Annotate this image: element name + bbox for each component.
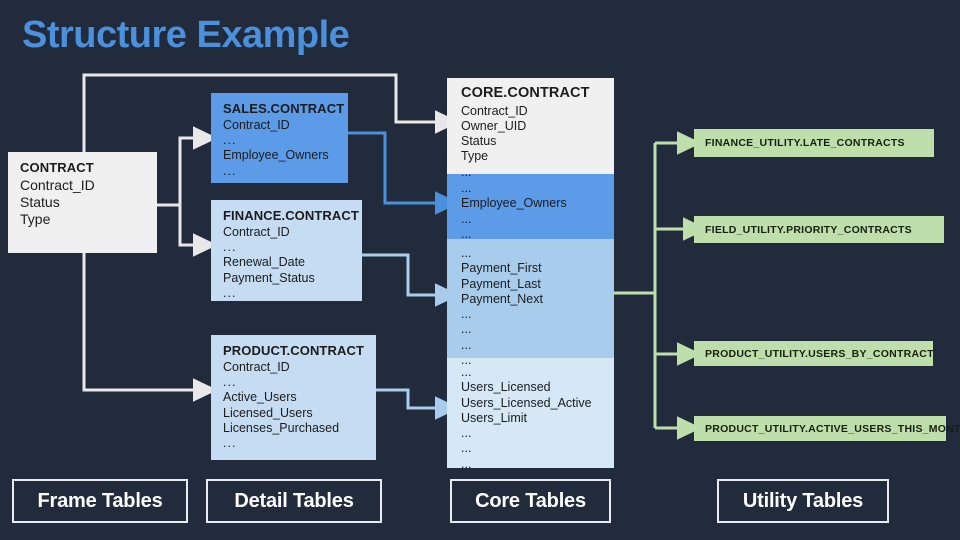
field: Licenses_Purchased (223, 421, 366, 436)
utility-table-label: PRODUCT_UTILITY.ACTIVE_USERS_THIS_MONTH (705, 423, 960, 435)
field: Status (20, 194, 147, 211)
field: Licensed_Users (223, 406, 366, 421)
table-title: CORE.CONTRACT (461, 85, 604, 103)
wire-contract-to-finance (157, 205, 196, 245)
field: Type (461, 149, 604, 164)
wire-product-to-core (376, 390, 438, 408)
wire-finance-to-core (362, 255, 438, 295)
legend-label: Core Tables (475, 490, 586, 513)
diagram-canvas: Structure Example (0, 0, 960, 540)
field: Payment_First (461, 261, 604, 276)
core-table-core-contract[interactable]: CORE.CONTRACT Contract_ID Owner_UID Stat… (447, 78, 614, 468)
field-ellipsis: ... (461, 307, 604, 322)
wire-contract-to-product (84, 253, 196, 390)
field: Users_Licensed (461, 380, 604, 395)
wire-contract-to-sales (157, 138, 196, 205)
table-title: CONTRACT (20, 160, 147, 176)
field: Contract_ID (223, 360, 366, 375)
field: Renewal_Date (223, 255, 352, 270)
field: Contract_ID (223, 225, 352, 240)
field: Employee_Owners (223, 148, 338, 163)
utility-table-field-priority-contracts[interactable]: FIELD_UTILITY.PRIORITY_CONTRACTS (694, 216, 944, 243)
utility-table-product-active-users-this-month[interactable]: PRODUCT_UTILITY.ACTIVE_USERS_THIS_MONTH (694, 416, 946, 441)
legend-label: Detail Tables (234, 490, 353, 513)
frame-table-contract[interactable]: CONTRACT Contract_ID Status Type (8, 152, 157, 253)
field: Contract_ID (461, 104, 604, 119)
field-ellipsis: ... (461, 365, 604, 380)
field-ellipsis: ... (461, 212, 604, 227)
field: Payment_Status (223, 271, 352, 286)
field-ellipsis: ... (223, 240, 352, 255)
table-title: FINANCE.CONTRACT (223, 208, 352, 224)
utility-table-label: FIELD_UTILITY.PRIORITY_CONTRACTS (705, 224, 912, 236)
field-ellipsis: ... (461, 338, 604, 353)
utility-table-finance-late-contracts[interactable]: FINANCE_UTILITY.LATE_CONTRACTS (694, 129, 934, 157)
field-ellipsis: ... (223, 133, 338, 148)
legend-frame-tables: Frame Tables (12, 479, 188, 523)
detail-table-sales-contract[interactable]: SALES.CONTRACT Contract_ID ... Employee_… (211, 93, 348, 183)
field: Employee_Owners (461, 196, 604, 211)
field: Payment_Next (461, 292, 604, 307)
table-title: SALES.CONTRACT (223, 101, 338, 117)
legend-detail-tables: Detail Tables (206, 479, 382, 523)
field: Users_Limit (461, 411, 604, 426)
field: Contract_ID (223, 118, 338, 133)
field-ellipsis: ... (461, 246, 604, 261)
detail-table-product-contract[interactable]: PRODUCT.CONTRACT Contract_ID ... Active_… (211, 335, 376, 460)
core-band-sales[interactable]: ... Employee_Owners ... ... (447, 174, 614, 239)
page-title: Structure Example (22, 14, 349, 57)
field: Type (20, 211, 147, 228)
field-ellipsis: ... (223, 286, 352, 301)
legend-label: Frame Tables (37, 490, 162, 513)
table-title: PRODUCT.CONTRACT (223, 343, 366, 359)
field-ellipsis: ... (461, 441, 604, 456)
wire-sales-to-core (348, 133, 438, 203)
field-ellipsis: ... (461, 426, 604, 441)
utility-table-label: PRODUCT_UTILITY.USERS_BY_CONTRACT (705, 348, 934, 360)
field-ellipsis: ... (223, 436, 366, 451)
legend-core-tables: Core Tables (450, 479, 611, 523)
field: Owner_UID (461, 119, 604, 134)
legend-utility-tables: Utility Tables (717, 479, 889, 523)
field: Status (461, 134, 604, 149)
core-band-finance[interactable]: ... Payment_First Payment_Last Payment_N… (447, 239, 614, 358)
field-ellipsis: ... (223, 375, 366, 390)
field: Users_Licensed_Active (461, 396, 604, 411)
detail-table-finance-contract[interactable]: FINANCE.CONTRACT Contract_ID ... Renewal… (211, 200, 362, 301)
legend-label: Utility Tables (743, 490, 863, 513)
core-band-product[interactable]: ... Users_Licensed Users_Licensed_Active… (447, 358, 614, 468)
utility-table-product-users-by-contract[interactable]: PRODUCT_UTILITY.USERS_BY_CONTRACT (694, 341, 933, 366)
field: Contract_ID (20, 177, 147, 194)
field-ellipsis: ... (461, 181, 604, 196)
field-ellipsis: ... (461, 457, 604, 472)
field: Payment_Last (461, 277, 604, 292)
core-band-identity[interactable]: CORE.CONTRACT Contract_ID Owner_UID Stat… (447, 78, 614, 174)
field-ellipsis: ... (223, 164, 338, 179)
utility-table-label: FINANCE_UTILITY.LATE_CONTRACTS (705, 137, 905, 149)
wire-core-to-utility-trunk (614, 143, 655, 293)
field: Active_Users (223, 390, 366, 405)
field-ellipsis: ... (461, 322, 604, 337)
